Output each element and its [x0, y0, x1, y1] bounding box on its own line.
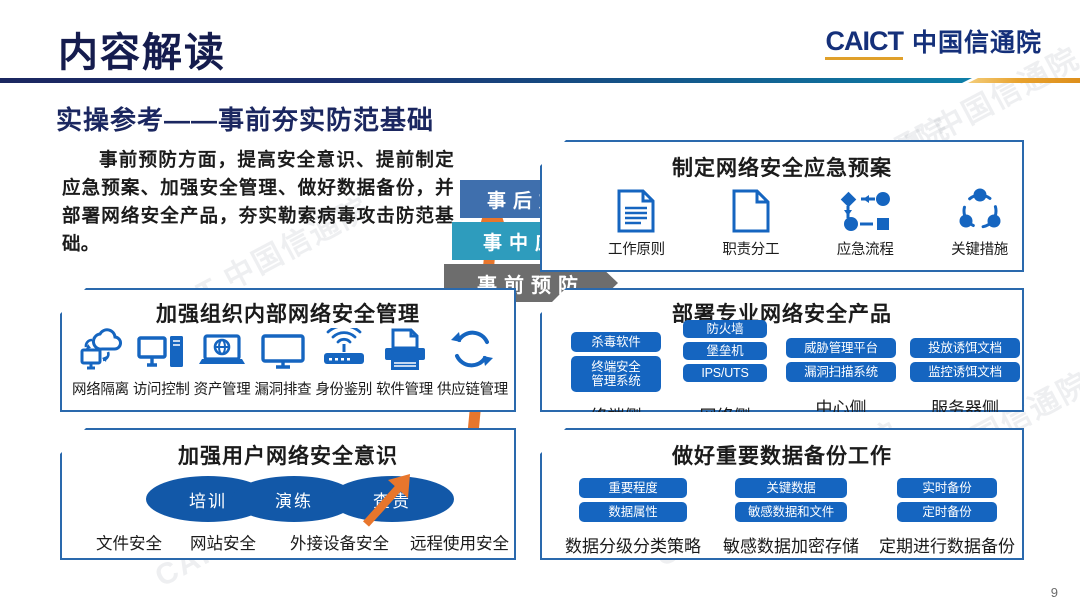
section-heading: 实操参考——事前夯实防范基础 — [56, 100, 434, 137]
wifi-router-icon — [319, 328, 369, 374]
logo-mark: CAICT — [825, 28, 903, 60]
panel-title: 做好重要数据备份工作 — [542, 440, 1022, 470]
backup-pill[interactable]: 敏感数据和文件 — [735, 502, 847, 522]
document-blank-icon — [730, 188, 772, 234]
panel-title: 制定网络安全应急预案 — [542, 152, 1022, 182]
backup-pill[interactable]: 实时备份 — [897, 478, 997, 498]
panel-internal-management: 加强组织内部网络安全管理 网络隔离 — [60, 288, 516, 412]
item-emergency-flow[interactable]: 应急流程 — [837, 188, 894, 259]
backup-pill[interactable]: 数据属性 — [579, 502, 687, 522]
backup-pill[interactable]: 重要程度 — [579, 478, 687, 498]
refresh-cycle-icon — [449, 328, 495, 374]
cloud-sync-monitor-icon — [76, 328, 124, 374]
item-network-isolation[interactable]: 网络隔离 — [72, 328, 129, 399]
awareness-caption: 网站安全 — [190, 530, 256, 554]
backup-group-encryption: 关键数据 敏感数据和文件 敏感数据加密存储 — [712, 478, 870, 557]
caict-logo: CAICT 中国信通院 — [825, 28, 1042, 60]
item-key-measures[interactable]: 关键措施 — [951, 188, 1008, 259]
item-vulnerability-scan[interactable]: 漏洞排查 — [254, 328, 311, 399]
logo-name: 中国信通院 — [912, 31, 1042, 60]
panel-title: 加强用户网络安全意识 — [62, 440, 514, 470]
internal-management-items: 网络隔离 访问控制 — [72, 328, 508, 399]
page-number: 9 — [1051, 585, 1058, 600]
product-group-server: 投放诱饵文档 监控诱饵文档 服务器侧 — [904, 338, 1026, 419]
backup-group-caption: 定期进行数据备份 — [879, 532, 1015, 557]
awareness-rising-arrow-icon — [358, 468, 420, 530]
backup-group-caption: 数据分级分类策略 — [565, 532, 701, 557]
awareness-caption: 远程使用安全 — [410, 530, 509, 554]
divider-blue-segment — [0, 78, 972, 83]
product-group-caption: 中心侧 — [816, 394, 867, 419]
item-identity-auth[interactable]: 身份鉴别 — [315, 328, 372, 399]
item-work-principle[interactable]: 工作原则 — [608, 188, 665, 259]
page-title: 内容解读 — [58, 20, 226, 78]
item-label: 职责分工 — [722, 238, 779, 259]
product-group-caption: 终端侧 — [591, 402, 642, 427]
item-label: 访问控制 — [133, 378, 190, 399]
panel-user-awareness: 加强用户网络安全意识 培训 演练 查责 文件安全 网站安全 外接设备安全 远程使… — [60, 428, 516, 560]
product-pill[interactable]: 堡垒机 — [683, 342, 767, 360]
item-label: 供应链管理 — [437, 378, 508, 399]
document-lines-icon — [615, 188, 657, 234]
page-header: 内容解读 CAICT 中国信通院 — [0, 0, 1080, 86]
awareness-caption: 文件安全 — [96, 530, 162, 554]
backup-pill[interactable]: 关键数据 — [735, 478, 847, 498]
item-label: 网络隔离 — [72, 378, 129, 399]
product-pill[interactable]: 漏洞扫描系统 — [786, 362, 896, 382]
item-access-control[interactable]: 访问控制 — [133, 328, 190, 399]
item-label: 资产管理 — [194, 378, 251, 399]
product-group-endpoint: 杀毒软件 终端安全 管理系统 终端侧 — [564, 332, 668, 427]
item-software-management[interactable]: 软件管理 — [376, 328, 433, 399]
item-label: 应急流程 — [837, 238, 894, 259]
backup-pill[interactable]: 定时备份 — [897, 502, 997, 522]
laptop-globe-icon — [196, 328, 248, 374]
product-pill[interactable]: 投放诱饵文档 — [910, 338, 1020, 358]
printer-icon — [381, 328, 429, 374]
product-pill[interactable]: IPS/UTS — [683, 364, 767, 382]
product-group-network: 防火墙 堡垒机 IPS/UTS 网络侧 — [672, 320, 778, 427]
item-label: 身份鉴别 — [315, 378, 372, 399]
item-label: 漏洞排查 — [254, 378, 311, 399]
product-pill[interactable]: 终端安全 管理系统 — [571, 356, 661, 392]
panel-title: 加强组织内部网络安全管理 — [62, 298, 514, 328]
item-label: 关键措施 — [951, 238, 1008, 259]
product-pill[interactable]: 防火墙 — [683, 320, 767, 338]
monitor-icon — [259, 328, 307, 374]
item-responsibility[interactable]: 职责分工 — [722, 188, 779, 259]
emergency-plan-items: 工作原则 职责分工 — [608, 188, 1008, 259]
panel-emergency-plan: 制定网络安全应急预案 工作原则 — [540, 140, 1024, 272]
intro-paragraph: 事前预防方面，提高安全意识、提前制定应急预案、加强安全管理、做好数据备份，并部署… — [62, 146, 454, 258]
flow-nodes-icon — [839, 188, 891, 234]
product-group-caption: 网络侧 — [700, 402, 751, 427]
panel-title: 部署专业网络安全产品 — [542, 298, 1022, 328]
item-supply-chain[interactable]: 供应链管理 — [437, 328, 508, 399]
product-group-caption: 服务器侧 — [931, 394, 999, 419]
product-group-center: 威胁管理平台 漏洞扫描系统 中心侧 — [780, 338, 902, 419]
backup-group-classification: 重要程度 数据属性 数据分级分类策略 — [558, 478, 708, 557]
panel-data-backup: 做好重要数据备份工作 重要程度 数据属性 数据分级分类策略 关键数据 敏感数据和… — [540, 428, 1024, 560]
divider-gold-segment — [968, 78, 1080, 83]
header-divider — [0, 78, 1080, 83]
panel-security-products: 部署专业网络安全产品 杀毒软件 终端安全 管理系统 终端侧 防火墙 堡垒机 IP… — [540, 288, 1024, 412]
product-pill[interactable]: 杀毒软件 — [571, 332, 661, 352]
product-pill[interactable]: 威胁管理平台 — [786, 338, 896, 358]
circular-nodes-icon — [956, 188, 1004, 234]
backup-group-caption: 敏感数据加密存储 — [723, 532, 859, 557]
product-pill[interactable]: 监控诱饵文档 — [910, 362, 1020, 382]
item-label: 软件管理 — [376, 378, 433, 399]
item-label: 工作原则 — [608, 238, 665, 259]
awareness-caption: 外接设备安全 — [290, 530, 389, 554]
desktop-tower-icon — [136, 328, 186, 374]
item-asset-management[interactable]: 资产管理 — [194, 328, 251, 399]
backup-group-periodic: 实时备份 定时备份 定期进行数据备份 — [872, 478, 1022, 557]
